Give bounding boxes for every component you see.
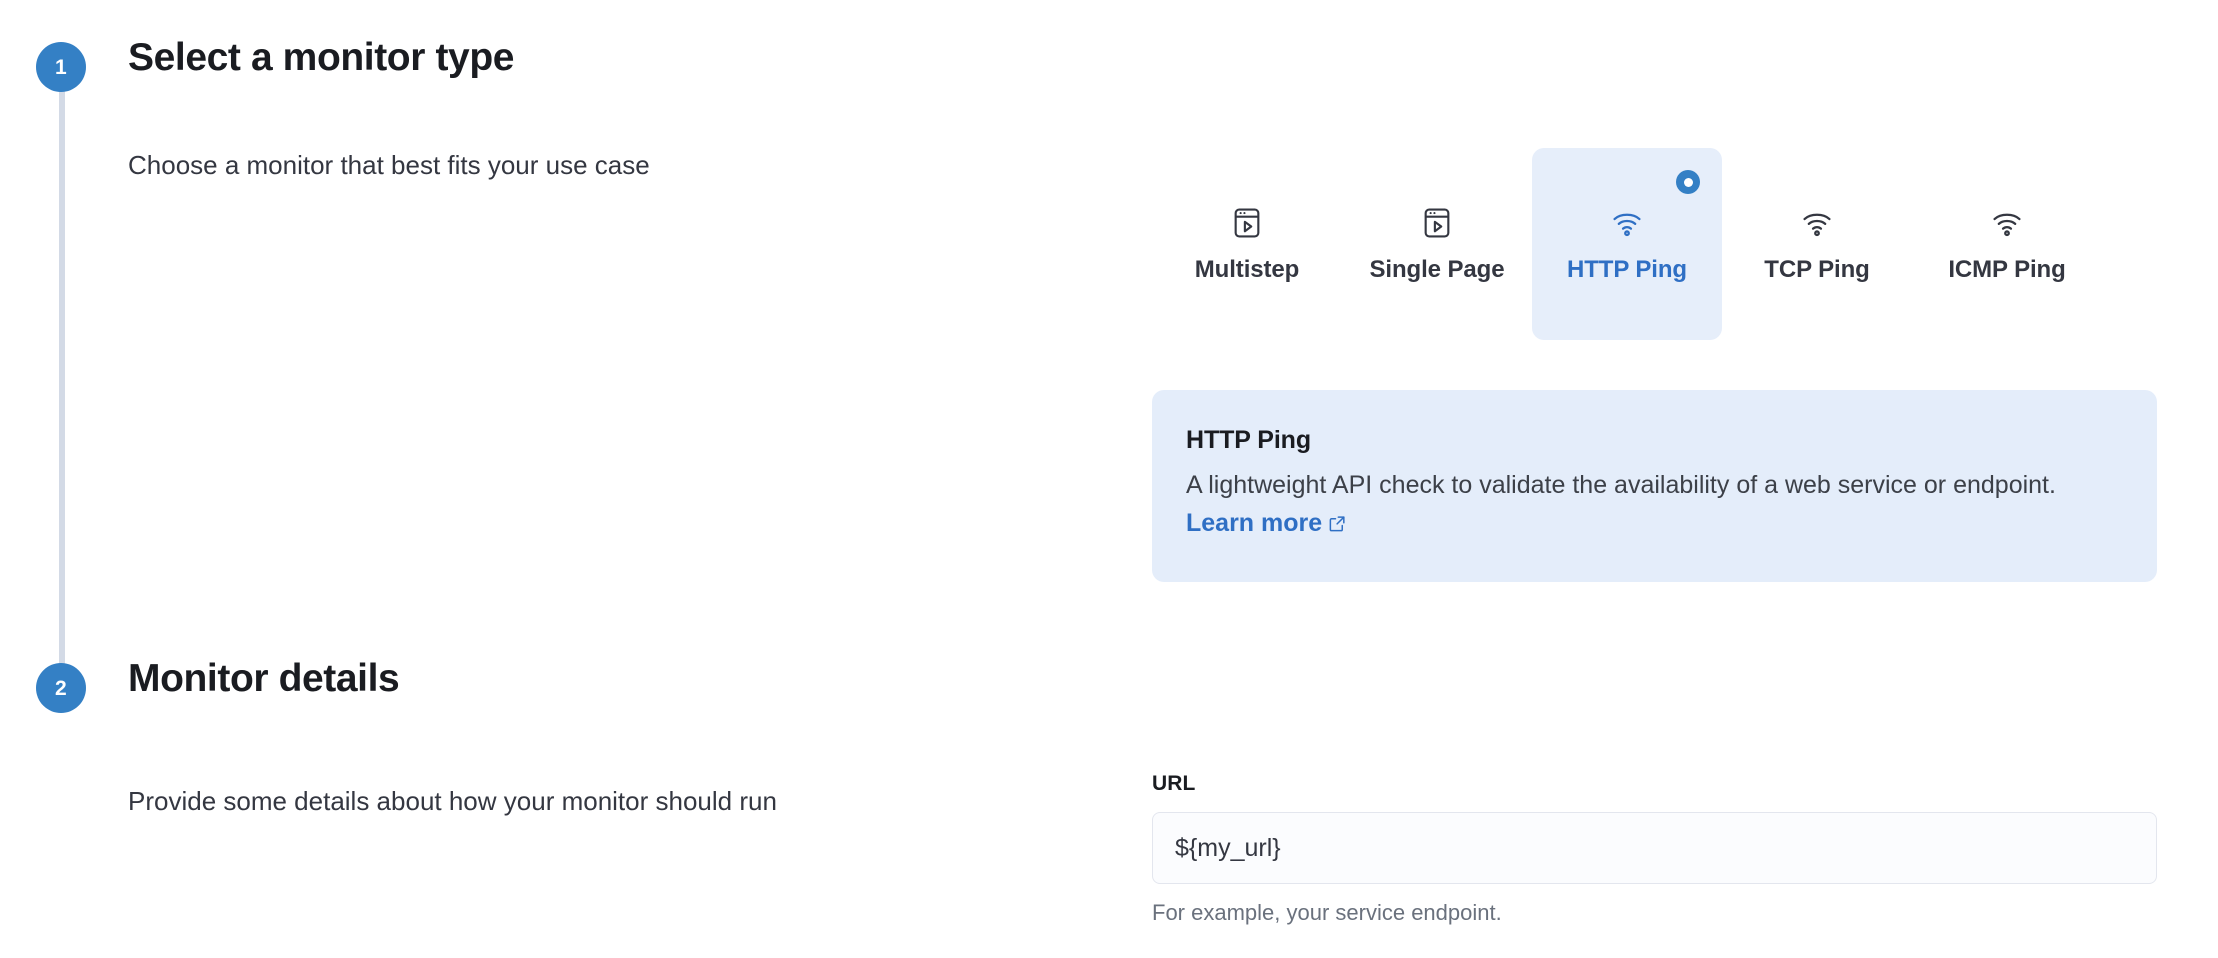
monitor-type-info-panel: HTTP Ping A lightweight API check to val… [1152,390,2157,582]
external-link-icon[interactable] [1328,507,1347,545]
info-panel-body: A lightweight API check to validate the … [1186,467,2123,544]
radio-selected-icon[interactable] [1676,170,1700,194]
url-field-block: URL For example, your service endpoint. [1152,772,2157,926]
monitor-type-card-tcp-ping[interactable]: TCP Ping [1722,148,1912,340]
browser-play-icon [1420,206,1454,240]
wifi-signal-icon [1610,206,1644,240]
monitor-type-label: ICMP Ping [1948,256,2065,284]
monitor-type-label: HTTP Ping [1567,256,1687,284]
monitor-type-label: TCP Ping [1764,256,1869,284]
info-panel-text: A lightweight API check to validate the … [1186,471,2056,499]
step-badge-2: 2 [36,663,86,713]
info-panel-title: HTTP Ping [1186,426,2123,455]
section-title-monitor-details: Monitor details [128,657,399,701]
learn-more-link[interactable]: Learn more [1186,509,1322,537]
step-number: 2 [55,678,67,699]
step-number: 1 [55,57,67,78]
monitor-type-card-single-page[interactable]: Single Page [1342,148,1532,340]
monitor-setup-page: 1 2 Select a monitor type Choose a monit… [0,0,2218,958]
monitor-type-card-http-ping[interactable]: HTTP Ping [1532,148,1722,340]
monitor-type-selector: Multistep Single Page [1152,148,2102,340]
stepper-connector-line [59,70,65,700]
url-field-label: URL [1152,772,2157,796]
section-description-monitor-details: Provide some details about how your moni… [128,786,777,817]
wifi-signal-icon [1800,206,1834,240]
browser-play-icon [1230,206,1264,240]
monitor-type-label: Multistep [1195,256,1299,284]
wifi-signal-icon [1990,206,2024,240]
monitor-type-card-icmp-ping[interactable]: ICMP Ping [1912,148,2102,340]
monitor-type-label: Single Page [1370,256,1505,284]
url-field-help-text: For example, your service endpoint. [1152,900,2157,926]
section-title-monitor-type: Select a monitor type [128,36,514,80]
url-input[interactable] [1152,812,2157,884]
section-description-monitor-type: Choose a monitor that best fits your use… [128,150,650,181]
monitor-type-card-multistep[interactable]: Multistep [1152,148,1342,340]
step-badge-1: 1 [36,42,86,92]
